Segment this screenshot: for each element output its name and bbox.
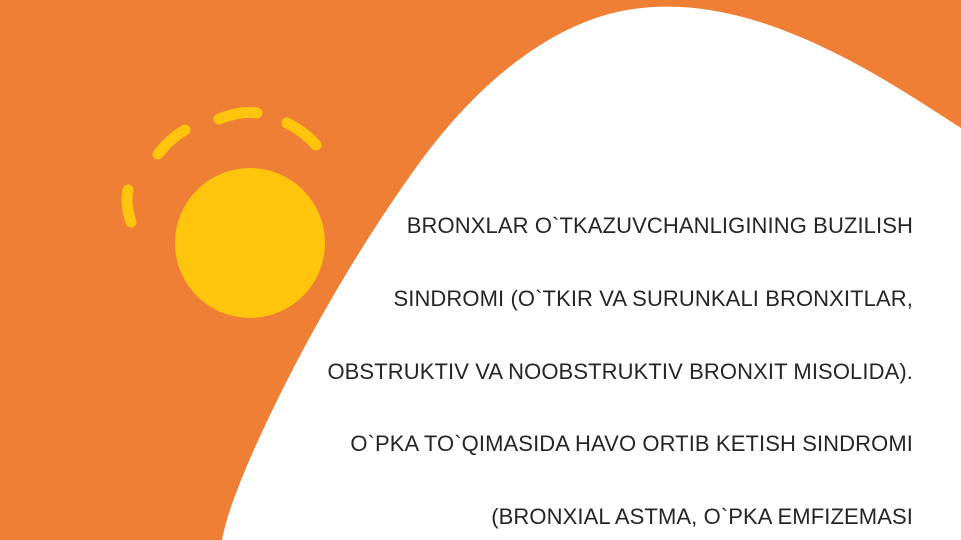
- slide-title: BRONXLAR O`TKAZUVCHANLIGINING BUZILISH S…: [300, 166, 913, 540]
- title-line: O`PKA TO`QIMASIDA HAVO ORTIB KETISH SIND…: [300, 432, 913, 456]
- title-line: SINDROMI (O`TKIR VA SURUNKALI BRONXITLAR…: [300, 287, 913, 311]
- sun-ray-left-icon: [127, 190, 131, 222]
- title-line: BRONXLAR O`TKAZUVCHANLIGINING BUZILISH: [300, 214, 913, 238]
- title-line: (BRONXIAL ASTMA, O`PKA EMFIZEMASI: [300, 505, 913, 529]
- title-line: OBSTRUKTIV VA NOOBSTRUKTIV BRONXIT MISOL…: [300, 360, 913, 384]
- slide-canvas: BRONXLAR O`TKAZUVCHANLIGINING BUZILISH S…: [0, 0, 961, 540]
